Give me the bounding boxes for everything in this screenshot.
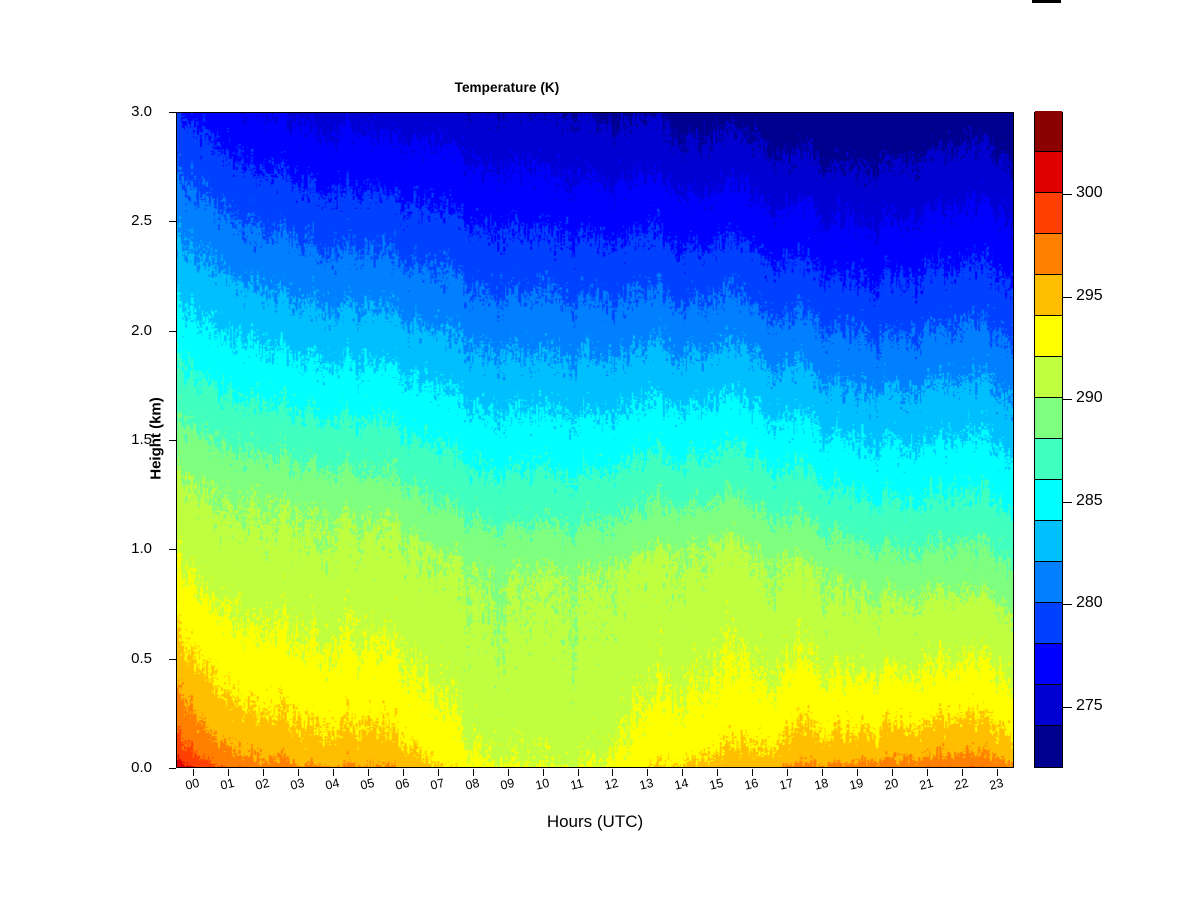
- colorbar: [1034, 112, 1063, 768]
- colorbar-band-divider: [1035, 479, 1062, 480]
- y-axis-label: Height (km): [148, 339, 165, 539]
- colorbar-band-divider: [1035, 684, 1062, 685]
- colorbar-band: [1035, 726, 1062, 767]
- x-tick-label: 03: [289, 776, 306, 793]
- x-tick-mark: [962, 769, 963, 776]
- colorbar-band: [1035, 521, 1062, 562]
- x-tick-mark: [857, 769, 858, 776]
- colorbar-band: [1035, 398, 1062, 439]
- colorbar-tick-label: 300: [1076, 184, 1103, 202]
- x-tick-label: 06: [394, 776, 411, 793]
- colorbar-band-divider: [1035, 192, 1062, 193]
- x-tick-mark: [438, 769, 439, 776]
- colorbar-tick-mark: [1063, 502, 1072, 503]
- x-tick-label: 01: [219, 776, 236, 793]
- x-tick-label: 11: [569, 776, 585, 793]
- x-tick-mark: [752, 769, 753, 776]
- x-tick-mark: [682, 769, 683, 776]
- colorbar-band: [1035, 644, 1062, 685]
- x-tick-label: 05: [359, 776, 376, 793]
- x-tick-label: 09: [499, 776, 516, 793]
- x-tick-mark: [193, 769, 194, 776]
- figure-canvas: Temperature (K) 0.00.51.01.52.02.53.0 00…: [0, 0, 1200, 900]
- colorbar-tick-label: 275: [1076, 697, 1103, 715]
- x-tick-mark: [612, 769, 613, 776]
- colorbar-band: [1035, 234, 1062, 275]
- x-tick-mark: [822, 769, 823, 776]
- x-tick-label: 20: [883, 776, 900, 793]
- x-tick-label: 21: [918, 776, 935, 793]
- colorbar-tick-mark: [1063, 604, 1072, 605]
- x-tick-label: 18: [813, 776, 830, 793]
- x-tick-label: 16: [743, 776, 760, 793]
- colorbar-tick-mark: [1063, 194, 1072, 195]
- x-tick-label: 00: [184, 776, 201, 793]
- colorbar-band: [1035, 357, 1062, 398]
- colorbar-band: [1035, 316, 1062, 357]
- x-tick-mark: [787, 769, 788, 776]
- colorbar-band-divider: [1035, 356, 1062, 357]
- x-tick-mark: [647, 769, 648, 776]
- colorbar-band: [1035, 685, 1062, 726]
- colorbar-band: [1035, 562, 1062, 603]
- x-tick-label: 14: [673, 776, 690, 793]
- x-tick-mark: [997, 769, 998, 776]
- colorbar-band: [1035, 480, 1062, 521]
- colorbar-tick-mark: [1063, 297, 1072, 298]
- x-axis-label: Hours (UTC): [176, 812, 1014, 832]
- x-tick-mark: [473, 769, 474, 776]
- x-tick-label: 04: [324, 776, 341, 793]
- x-tick-mark: [333, 769, 334, 776]
- colorbar-band-divider: [1035, 643, 1062, 644]
- colorbar-band: [1035, 439, 1062, 480]
- x-tick-mark: [403, 769, 404, 776]
- colorbar-band-divider: [1035, 151, 1062, 152]
- colorbar-band-divider: [1035, 561, 1062, 562]
- x-tick-mark: [927, 769, 928, 776]
- x-tick-label: 02: [254, 776, 271, 793]
- x-tick-mark: [543, 769, 544, 776]
- colorbar-band-divider: [1035, 233, 1062, 234]
- colorbar-tick-label: 280: [1076, 594, 1103, 612]
- x-tick-label: 15: [708, 776, 725, 793]
- colorbar-band-divider: [1035, 725, 1062, 726]
- x-tick-mark: [298, 769, 299, 776]
- colorbar-band-divider: [1035, 274, 1062, 275]
- colorbar-band-divider: [1035, 438, 1062, 439]
- colorbar-tick-label: 285: [1076, 492, 1103, 510]
- x-tick-label: 07: [429, 776, 446, 793]
- x-tick-label: 13: [638, 776, 655, 793]
- x-tick-label: 10: [534, 776, 551, 793]
- colorbar-band: [1035, 603, 1062, 644]
- x-tick-label: 17: [778, 776, 795, 793]
- x-tick-mark: [368, 769, 369, 776]
- colorbar-band-divider: [1035, 315, 1062, 316]
- colorbar-tick-label: 295: [1076, 287, 1103, 305]
- x-tick-label: 12: [603, 776, 620, 793]
- colorbar-tick-mark: [1063, 707, 1072, 708]
- colorbar-band: [1035, 152, 1062, 193]
- x-tick-mark: [892, 769, 893, 776]
- x-tick-label: 19: [848, 776, 865, 793]
- colorbar-tick-label: 290: [1076, 389, 1103, 407]
- x-tick-label: 22: [953, 776, 970, 793]
- x-tick-mark: [508, 769, 509, 776]
- colorbar-band: [1035, 275, 1062, 316]
- x-tick-mark: [717, 769, 718, 776]
- colorbar-band: [1035, 111, 1062, 152]
- x-axis: 0001020304050607080910111213141516171819…: [0, 0, 1200, 900]
- colorbar-band-divider: [1035, 602, 1062, 603]
- colorbar-band: [1035, 193, 1062, 234]
- colorbar-band-divider: [1035, 397, 1062, 398]
- x-tick-label: 23: [988, 776, 1005, 793]
- colorbar-band-divider: [1035, 520, 1062, 521]
- x-tick-mark: [263, 769, 264, 776]
- x-tick-mark: [228, 769, 229, 776]
- x-tick-mark: [578, 769, 579, 776]
- colorbar-tick-mark: [1063, 399, 1072, 400]
- x-tick-label: 08: [464, 776, 481, 793]
